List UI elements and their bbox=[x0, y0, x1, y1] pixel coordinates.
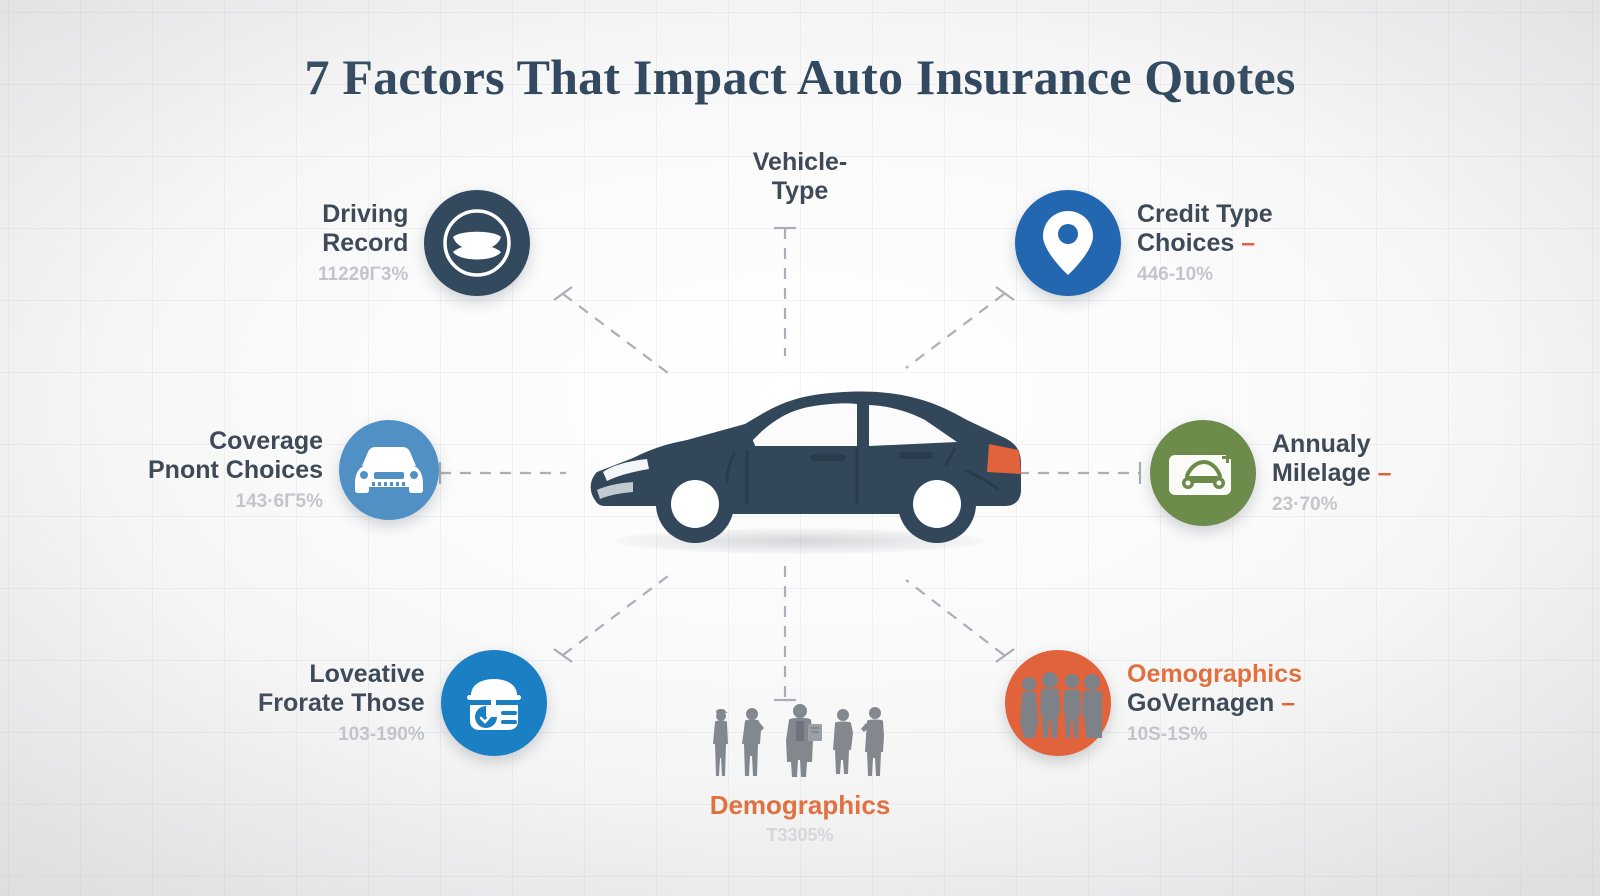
factor-label-line-1: Vehicle- bbox=[0, 148, 1600, 177]
factor-node-annual-mileage[interactable]: Annualy Milelage – 23·70% bbox=[1150, 420, 1392, 526]
factor-labels-credit-type: Credit Type Choices – 446-10% bbox=[1137, 200, 1273, 286]
factor-labels-mileage: Annualy Milelage – 23·70% bbox=[1272, 430, 1392, 516]
factor-label-line-1: Credit Type bbox=[1137, 200, 1273, 230]
factor-label-line-1: Loveative bbox=[258, 660, 425, 690]
infographic-canvas: 7 Factors That Impact Auto Insurance Quo… bbox=[0, 0, 1600, 896]
factor-node-coverage-choices[interactable]: Coverage Pnont Choices 143·6Γ5% bbox=[148, 420, 439, 520]
factor-node-demographics-bottom[interactable]: Demographics T3305% bbox=[0, 700, 1600, 846]
location-pin-icon bbox=[1040, 207, 1096, 279]
factor-label-line-1: Coverage bbox=[148, 427, 323, 457]
watermark-text: PREMIUMQUOTE bbox=[1477, 872, 1566, 882]
accent-dash: – bbox=[1234, 229, 1255, 257]
factor-label-line-2: Record bbox=[318, 229, 408, 259]
factor-label-line-2: Choices – bbox=[1137, 229, 1273, 259]
people-crowd-icon bbox=[0, 700, 1600, 780]
factor-sub-value: 446-10% bbox=[1137, 264, 1273, 286]
factor-labels-coverage: Coverage Pnont Choices 143·6Γ5% bbox=[148, 427, 323, 513]
factor-sub-value: 1122θΓ3% bbox=[318, 264, 408, 286]
car-front-icon bbox=[350, 440, 428, 500]
factor-node-vehicle-type[interactable]: Vehicle- Type bbox=[0, 148, 1600, 206]
page-title: 7 Factors That Impact Auto Insurance Quo… bbox=[0, 48, 1600, 106]
factor-label-line-1: Oemographics bbox=[1127, 660, 1302, 690]
accent-dash: – bbox=[1371, 459, 1392, 487]
factor-sub-value: T3305% bbox=[0, 825, 1600, 846]
factor-icon-circle-mileage[interactable] bbox=[1150, 420, 1256, 526]
factor-label-line-1: Demographics bbox=[0, 790, 1600, 821]
car-card-icon bbox=[1165, 443, 1241, 503]
factor-label-text: Choices bbox=[1137, 229, 1234, 257]
factor-sub-value: 23·70% bbox=[1272, 494, 1392, 516]
factor-icon-circle-coverage[interactable] bbox=[339, 420, 439, 520]
factor-label-text: Milelage bbox=[1272, 459, 1371, 487]
factor-icon-circle-credit-type[interactable] bbox=[1015, 190, 1121, 296]
factor-label-line-2: Pnont Choices bbox=[148, 456, 323, 486]
factor-label-line-1: Annualy bbox=[1272, 430, 1392, 460]
factor-label-line-2: Milelage – bbox=[1272, 459, 1392, 489]
factor-label-line-2: Type bbox=[0, 177, 1600, 206]
factor-labels-driving-record: Driving Record 1122θΓ3% bbox=[318, 200, 408, 286]
factor-sub-value: 143·6Γ5% bbox=[148, 491, 323, 513]
steering-wheel-icon bbox=[440, 206, 514, 280]
car-illustration bbox=[575, 372, 1025, 547]
factor-node-credit-type-choices[interactable]: Credit Type Choices – 446-10% bbox=[1015, 190, 1273, 296]
